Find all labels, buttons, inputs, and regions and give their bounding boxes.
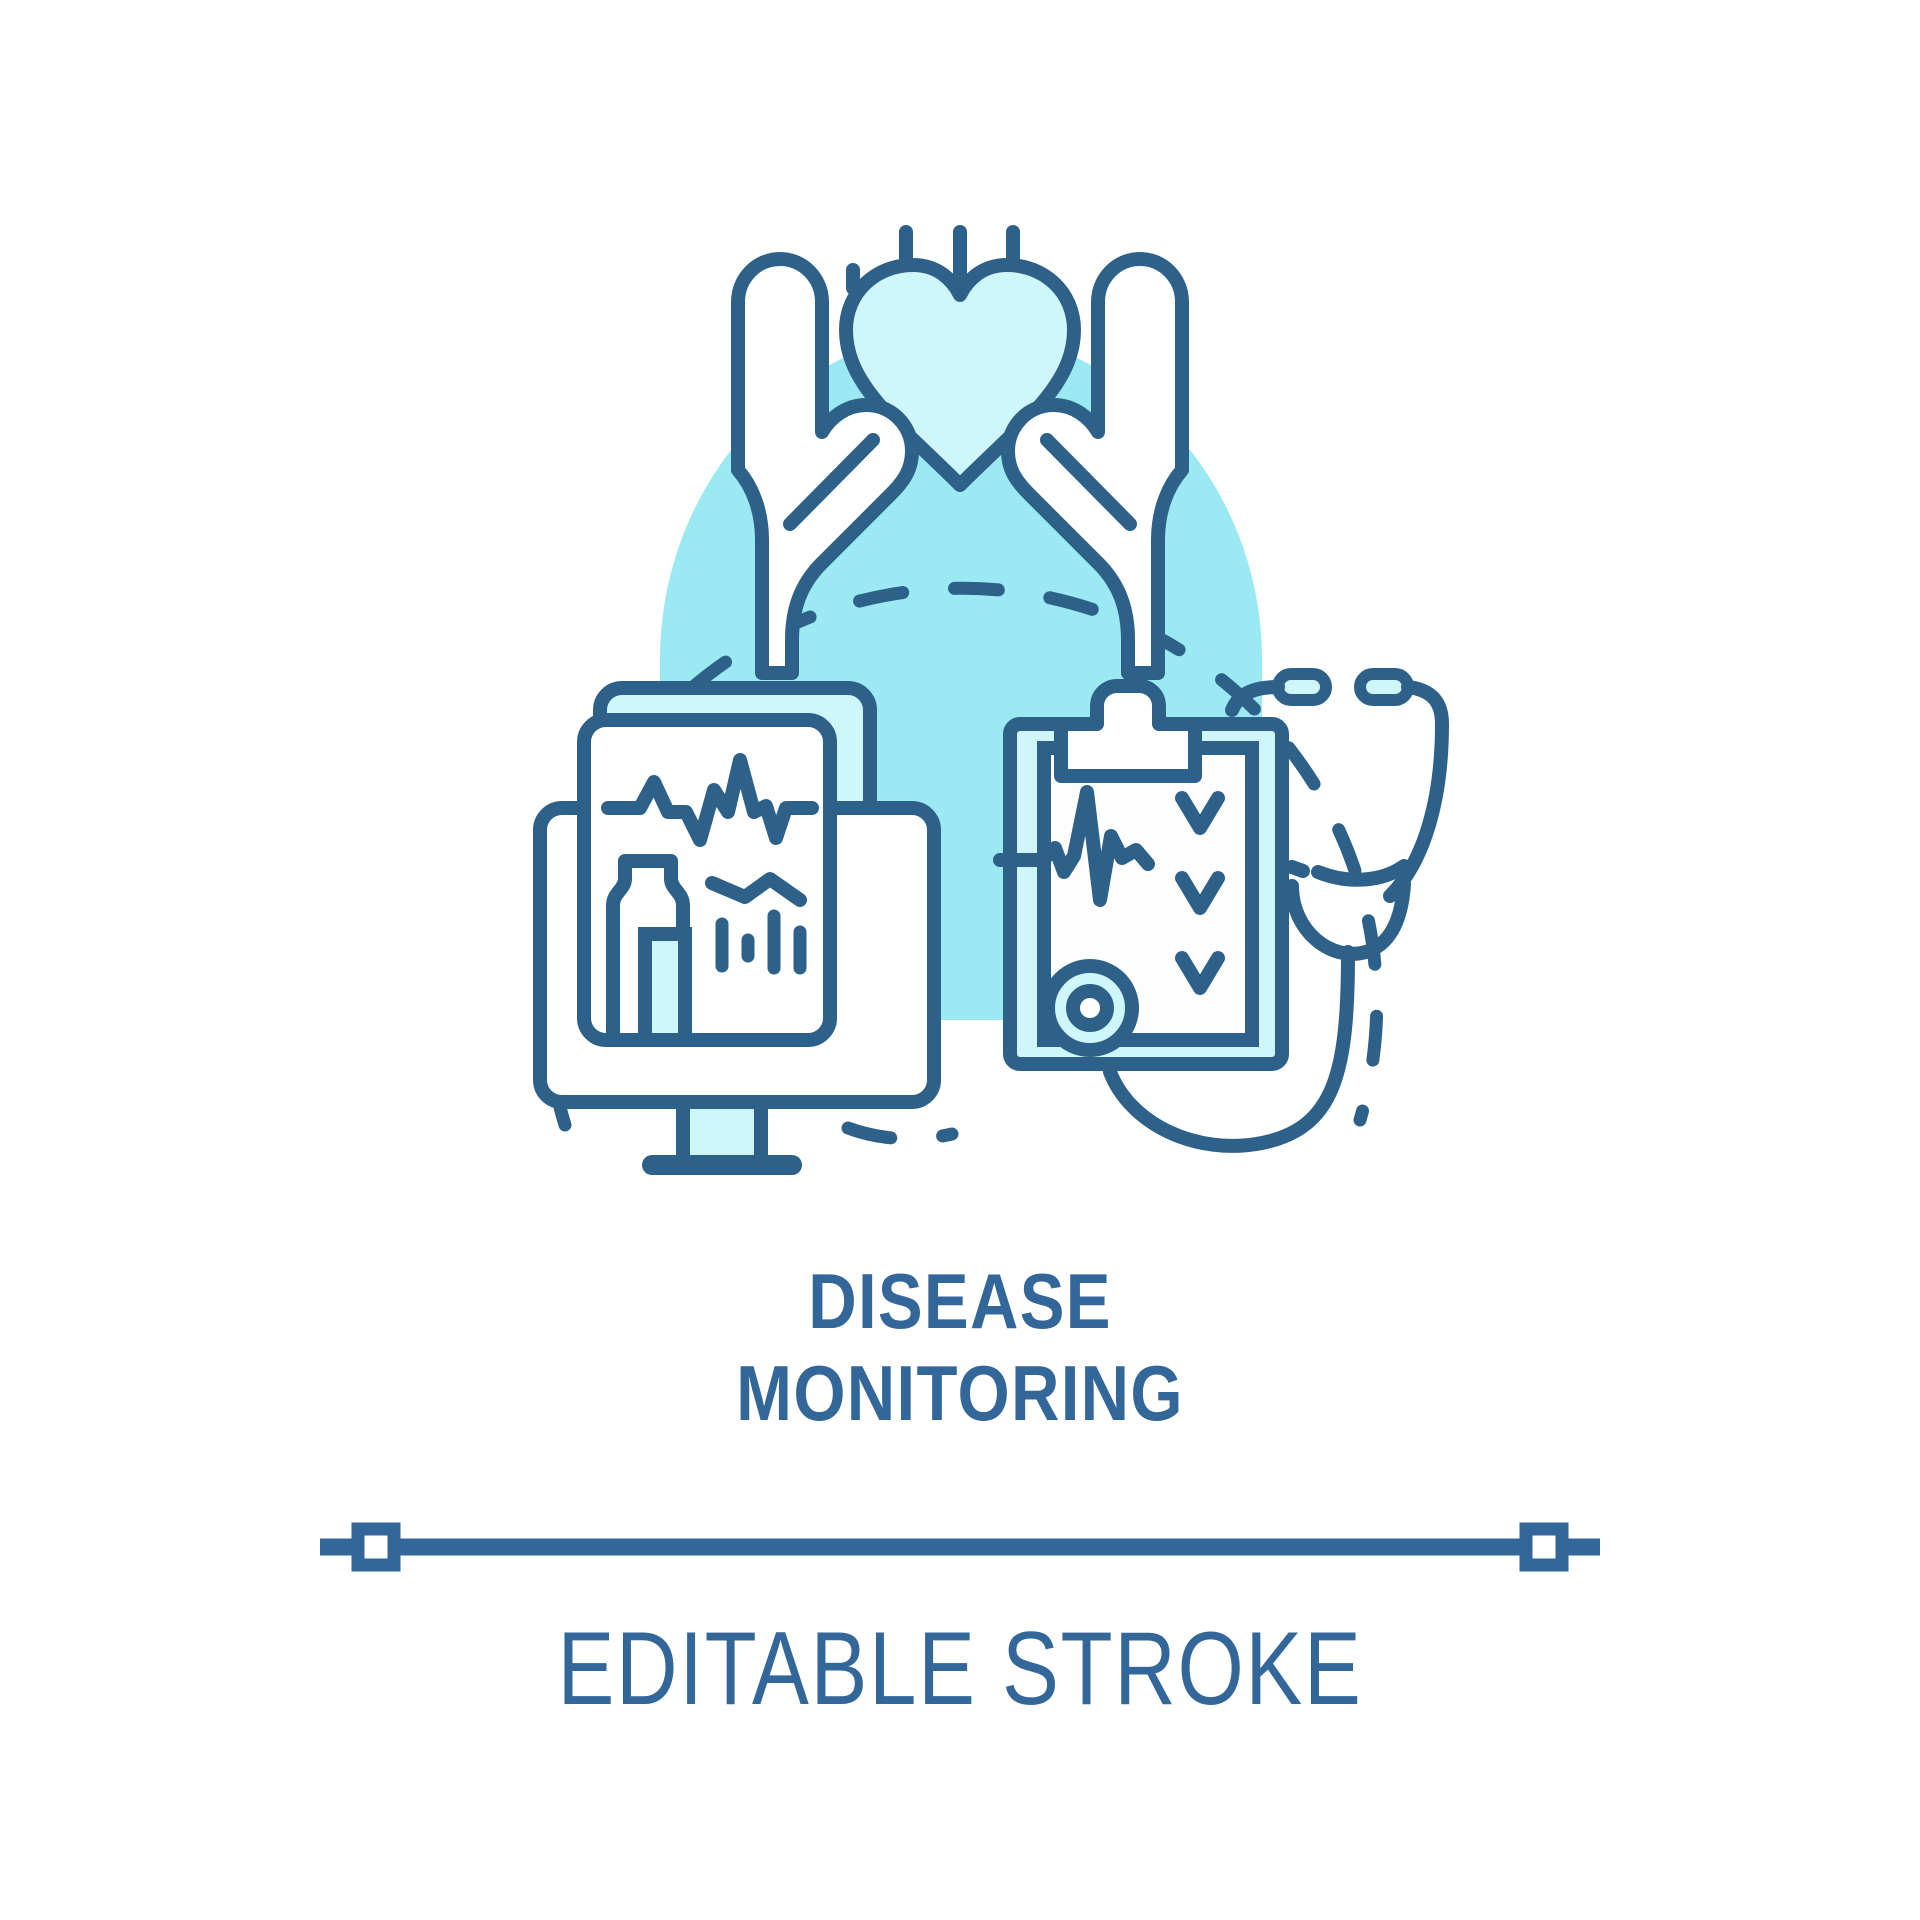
monitor-stand-neck (683, 1102, 761, 1164)
caption-line-2: MONITORING (134, 1347, 1785, 1439)
editable-stroke-label: EDITABLE STROKE (173, 1610, 1747, 1729)
stethoscope-chestpiece-inner (1073, 991, 1107, 1025)
stroke-width-indicator (0, 1512, 1920, 1582)
stroke-handle-left[interactable] (358, 1529, 394, 1565)
stethoscope-eartip-left (1278, 674, 1326, 700)
caption: DISEASE MONITORING (0, 1255, 1920, 1439)
dashed-arc-bottom (848, 1128, 952, 1139)
medicine-vial-liquid (645, 934, 685, 1040)
illustration-container (0, 0, 1920, 1280)
caption-line-1: DISEASE (134, 1255, 1785, 1347)
concept-icon-page: DISEASE MONITORING EDITABLE STROKE (0, 0, 1920, 1920)
stroke-handle-right[interactable] (1526, 1529, 1562, 1565)
stroke-rule-graphic (0, 1512, 1920, 1582)
stethoscope-bell-rim (1318, 866, 1404, 880)
stethoscope-bell-rim-tip (1292, 867, 1303, 871)
editable-stroke-label-block: EDITABLE STROKE (0, 1610, 1920, 1729)
stethoscope-eartip-right (1360, 674, 1408, 700)
disease-monitoring-illustration (0, 0, 1920, 1280)
